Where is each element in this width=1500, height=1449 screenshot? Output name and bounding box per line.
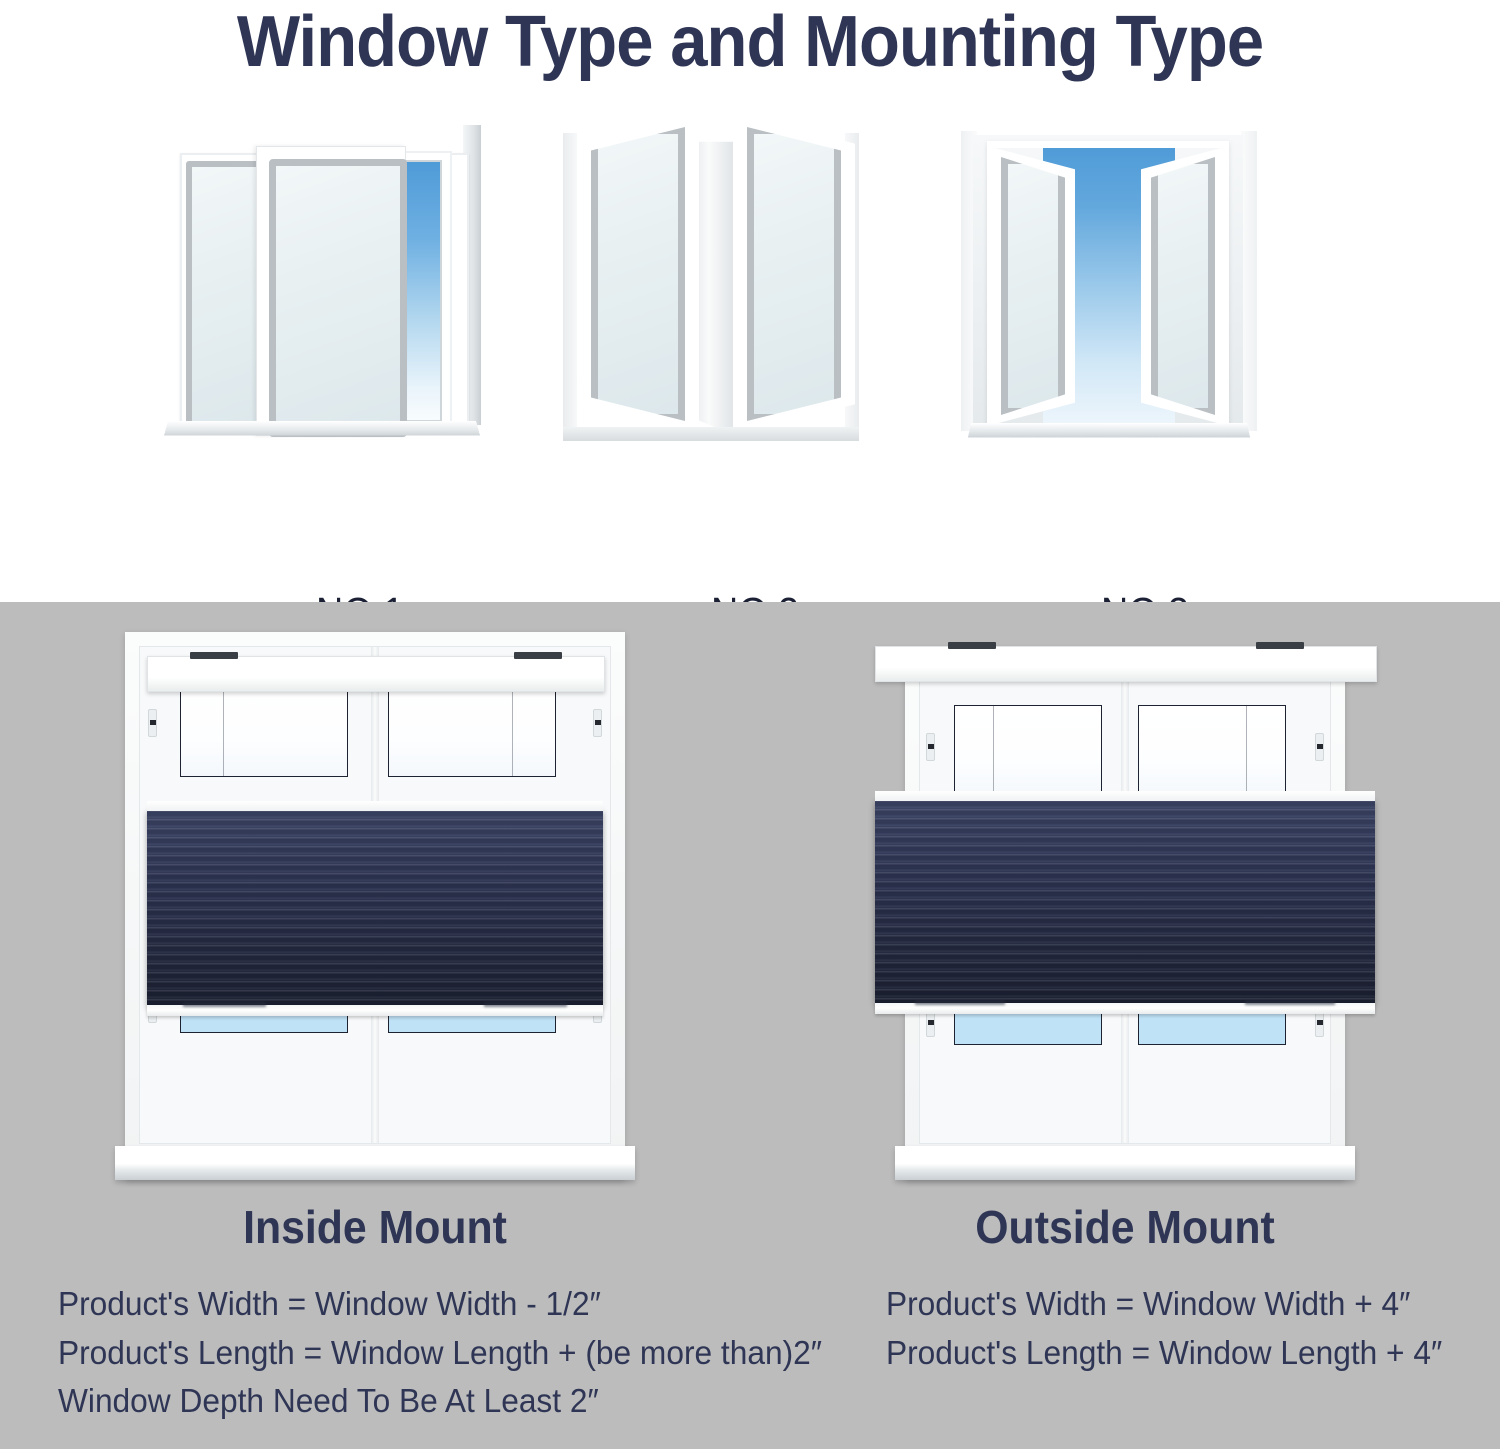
window-sill <box>895 1146 1355 1180</box>
glass-pane-upper-right <box>1138 705 1286 797</box>
cellular-shade[interactable] <box>147 810 603 1006</box>
outward-casement-window-icon <box>935 105 1355 485</box>
mounting-bracket-right <box>514 652 562 659</box>
formula-line: Window Depth Need To Be At Least 2″ <box>58 1377 822 1426</box>
window-sill <box>968 423 1250 438</box>
window-leaf-left <box>577 115 699 433</box>
window-handle-right[interactable] <box>593 709 602 737</box>
shade-top-rail <box>147 801 603 811</box>
sliding-sash <box>256 146 406 436</box>
window-type-card-1 <box>150 105 570 485</box>
mounting-bracket-right <box>1256 642 1304 649</box>
leaf-glass-right <box>1151 157 1215 415</box>
page-title: Window Type and Mounting Type <box>53 2 1448 83</box>
inward-casement-window-icon <box>545 105 965 485</box>
shade-bottom-rail <box>147 1005 603 1016</box>
shade-bottom-rail <box>875 1003 1375 1014</box>
glass-pane-upper-right <box>388 681 556 777</box>
window-type-card-3 <box>935 105 1355 485</box>
leaf-glass-left <box>591 127 685 421</box>
shade-headrail[interactable] <box>147 656 605 692</box>
window-handle-left[interactable] <box>148 709 157 737</box>
mounting-bracket-left <box>948 642 996 649</box>
glass-pane-upper-left <box>954 705 1102 797</box>
mounting-bracket-left <box>190 652 238 659</box>
inside-mount-window-icon <box>125 632 625 1192</box>
formula-line: Product's Length = Window Length + 4″ <box>886 1329 1442 1378</box>
window-sill <box>563 427 859 441</box>
wall-edge-left <box>563 133 577 429</box>
window-type-card-2 <box>545 105 965 485</box>
window-type-illustrations: NO.1 (inside or outside) NO.2 (only outs… <box>0 105 1500 485</box>
leaf-glass-right <box>747 127 841 421</box>
cellular-shade[interactable] <box>875 800 1375 1004</box>
leaf-glass-left <box>1001 157 1065 415</box>
inside-mount-heading: Inside Mount <box>26 1200 724 1254</box>
glass-pane-upper-left <box>180 681 348 777</box>
window-sill <box>164 421 480 435</box>
outside-mount-formulas: Product's Width = Window Width + 4″ Prod… <box>886 1280 1442 1377</box>
shade-headrail[interactable] <box>875 646 1377 682</box>
outside-mount-window-icon <box>875 632 1375 1192</box>
inside-mount-formulas: Product's Width = Window Width - 1/2″ Pr… <box>58 1280 822 1426</box>
formula-line: Product's Width = Window Width - 1/2″ <box>58 1280 822 1329</box>
wall-edge-right <box>1241 131 1257 431</box>
window-handle-right[interactable] <box>1315 733 1324 761</box>
window-handle-left[interactable] <box>926 733 935 761</box>
mounting-type-section: Inside Mount Product's Width = Window Wi… <box>0 602 1500 1449</box>
window-leaf-right <box>733 115 855 433</box>
window-leaf-left <box>991 147 1075 425</box>
formula-line: Product's Length = Window Length + (be m… <box>58 1329 822 1378</box>
sliding-pane-glass <box>269 159 407 437</box>
shade-top-rail <box>875 791 1375 801</box>
window-type-section: Window Type and Mounting Type <box>0 0 1500 602</box>
window-sill <box>115 1146 635 1180</box>
window-leaf-right <box>1141 147 1225 425</box>
sliding-window-icon <box>150 105 570 485</box>
outside-mount-heading: Outside Mount <box>776 1200 1474 1254</box>
formula-line: Product's Width = Window Width + 4″ <box>886 1280 1442 1329</box>
